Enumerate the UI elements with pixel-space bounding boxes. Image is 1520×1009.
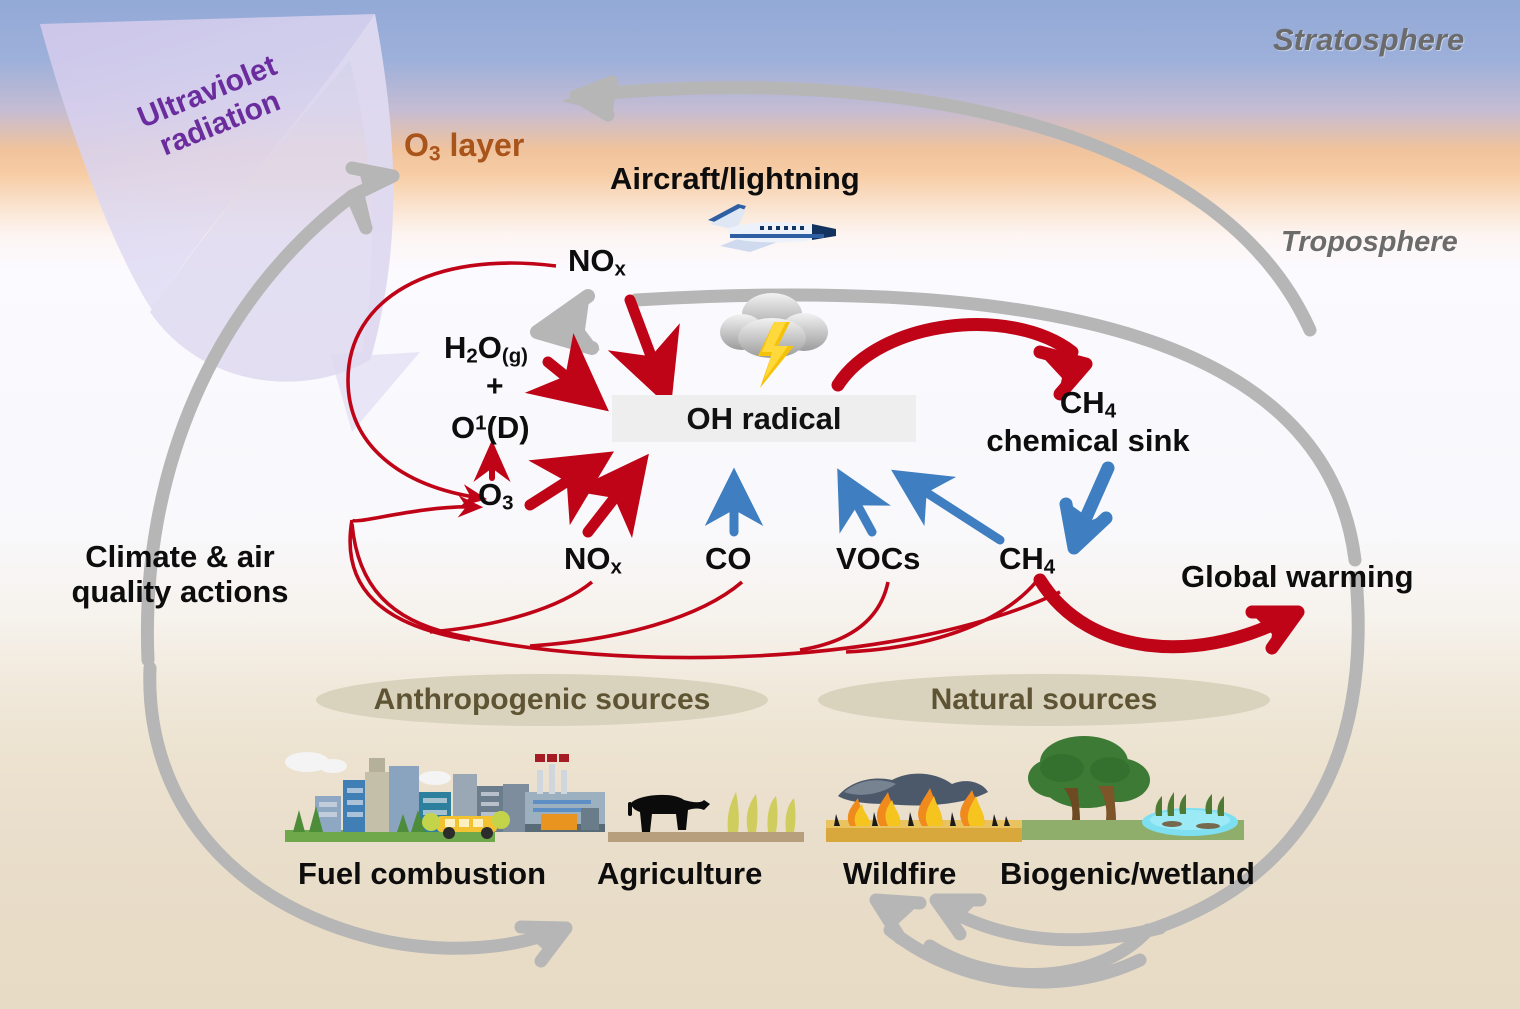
- anthropogenic-sources-pill: Anthropogenic sources: [316, 674, 768, 726]
- nox-lower-label: NOx: [564, 541, 622, 580]
- plus-sign: +: [486, 370, 504, 404]
- oh-radical-label: OH radical: [686, 401, 841, 437]
- h2o-vapour-label: H2O(g): [444, 330, 528, 369]
- ch4-sink-line-2: chemical sink: [953, 423, 1223, 458]
- o1d-label: O1(D): [451, 410, 530, 446]
- cow-crops-icon: [608, 780, 804, 842]
- global-warming-label: Global warming: [1181, 559, 1414, 595]
- h2o-oxygen: O: [478, 330, 502, 365]
- climate-actions-line-1: Climate & air: [54, 539, 306, 574]
- climate-actions-line-2: quality actions: [54, 574, 306, 609]
- ch4-chemical-sink-label: CH4 chemical sink: [953, 385, 1223, 458]
- diagram-canvas: Stratosphere Troposphere Ultraviolet rad…: [0, 0, 1520, 1009]
- source-caption-fuel-combustion: Fuel combustion: [298, 856, 546, 892]
- ch4-sink-symbol: CH: [1060, 385, 1105, 420]
- climate-actions-label: Climate & air quality actions: [54, 539, 306, 610]
- gray-arrows-bottom-right: [876, 898, 1160, 982]
- wildfire-icon: [826, 758, 1022, 842]
- o3-layer-label: O3 layer: [404, 127, 524, 167]
- source-caption-agriculture: Agriculture: [597, 856, 762, 892]
- nox-lower-symbol: NO: [564, 541, 611, 576]
- ch4-sink-subscript: 4: [1105, 400, 1116, 423]
- o1d-suffix: (D): [487, 410, 530, 445]
- thundercloud-lightning-icon: [714, 284, 834, 392]
- o3-layer-symbol: O: [404, 127, 429, 163]
- nox-upper-label: NOx: [568, 243, 626, 282]
- ch4-lower-symbol: CH: [999, 541, 1044, 576]
- o3-layer-subscript: 3: [429, 143, 441, 166]
- o3-subscript: 3: [502, 492, 513, 515]
- o3-symbol: O: [478, 477, 502, 512]
- trees-wetland-icon: [1022, 730, 1244, 842]
- h2o-state-subscript: (g): [502, 345, 528, 368]
- stratosphere-label: Stratosphere: [1273, 22, 1464, 58]
- o3-label: O3: [478, 477, 514, 516]
- airplane-icon: [700, 198, 840, 264]
- h2o-symbol: H: [444, 330, 466, 365]
- co-label: CO: [705, 541, 752, 577]
- oh-radical-box: OH radical: [612, 395, 916, 442]
- nox-lower-subscript: x: [611, 556, 622, 579]
- natural-sources-pill: Natural sources: [818, 674, 1270, 726]
- aircraft-lightning-label: Aircraft/lightning: [610, 161, 860, 197]
- nox-upper-symbol: NO: [568, 243, 615, 278]
- source-caption-wildfire: Wildfire: [843, 856, 956, 892]
- troposphere-label: Troposphere: [1281, 226, 1458, 259]
- h2o-subscript-2: 2: [466, 345, 477, 368]
- ch4-lower-subscript: 4: [1044, 556, 1055, 579]
- ch4-sink-line-1: CH4: [953, 385, 1223, 423]
- blue-arrows: [734, 482, 1000, 540]
- source-caption-biogenic-wetland: Biogenic/wetland: [1000, 856, 1255, 892]
- ch4-lower-label: CH4: [999, 541, 1055, 580]
- vocs-label: VOCs: [836, 541, 920, 577]
- blue-arrow-sink-to-ch4: [1064, 468, 1108, 548]
- nox-upper-subscript: x: [615, 258, 626, 281]
- o1d-superscript: 1: [475, 411, 486, 434]
- o1d-symbol: O: [451, 410, 475, 445]
- city-factory-icon: [285, 740, 605, 844]
- o3-layer-suffix: layer: [441, 127, 525, 163]
